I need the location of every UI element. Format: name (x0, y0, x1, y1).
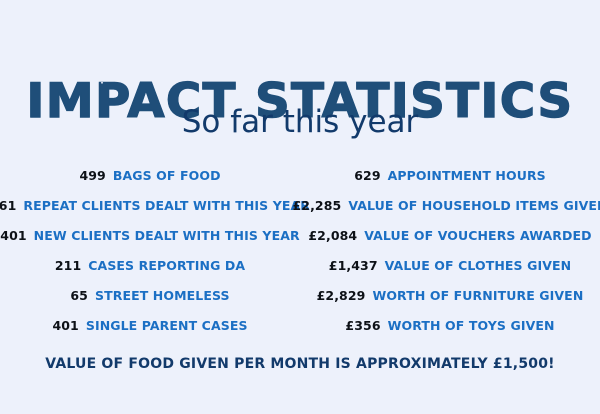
stat-row: £2,084 VALUE OF VOUCHERS AWARDED (300, 220, 600, 250)
stat-value: 65 (70, 288, 88, 303)
footer-note: VALUE OF FOOD GIVEN PER MONTH IS APPROXI… (0, 356, 600, 372)
stat-row: 461 REPEAT CLIENTS DEALT WITH THIS YEAR (0, 190, 300, 220)
stat-row: 401 SINGLE PARENT CASES (0, 310, 300, 340)
stat-value: £2,829 (317, 288, 366, 303)
stat-label: NEW CLIENTS DEALT WITH THIS YEAR (34, 228, 300, 243)
stat-label: VALUE OF HOUSEHOLD ITEMS GIVEN (348, 198, 600, 213)
stat-value: £2,084 (308, 228, 357, 243)
stat-row: 401 NEW CLIENTS DEALT WITH THIS YEAR (0, 220, 300, 250)
stat-value: £1,437 (329, 258, 378, 273)
stat-label: WORTH OF FURNITURE GIVEN (372, 288, 583, 303)
stat-label: WORTH OF TOYS GIVEN (388, 318, 555, 333)
page-subtitle: So far this year (0, 104, 600, 140)
stat-value: £2,285 (292, 198, 341, 213)
stat-value: £356 (345, 318, 380, 333)
stat-label: APPOINTMENT HOURS (388, 168, 546, 183)
stat-label: CASES REPORTING DA (88, 258, 245, 273)
stat-label: STREET HOMELESS (95, 288, 230, 303)
stat-row: 629 APPOINTMENT HOURS (300, 160, 600, 190)
stat-value: 401 (0, 228, 26, 243)
poster-title-wrap: IMPACT STATISTICS (0, 38, 600, 94)
stat-label: VALUE OF CLOTHES GIVEN (385, 258, 572, 273)
stat-value: 629 (354, 168, 380, 183)
stat-row: £2,829 WORTH OF FURNITURE GIVEN (300, 280, 600, 310)
stat-label: SINGLE PARENT CASES (86, 318, 248, 333)
stat-label: VALUE OF VOUCHERS AWARDED (364, 228, 591, 243)
statistics-column-right: 629 APPOINTMENT HOURS £2,285 VALUE OF HO… (300, 160, 600, 340)
stat-row: 499 BAGS OF FOOD (0, 160, 300, 190)
stat-row: £1,437 VALUE OF CLOTHES GIVEN (300, 250, 600, 280)
statistics-columns: 499 BAGS OF FOOD 461 REPEAT CLIENTS DEAL… (0, 160, 600, 340)
stat-row: £356 WORTH OF TOYS GIVEN (300, 310, 600, 340)
stat-row: 211 CASES REPORTING DA (0, 250, 300, 280)
stat-row: 65 STREET HOMELESS (0, 280, 300, 310)
stat-value: 461 (0, 198, 16, 213)
impact-statistics-poster: IMPACT STATISTICS So far this year 499 B… (0, 0, 600, 414)
stat-row: £2,285 VALUE OF HOUSEHOLD ITEMS GIVEN (300, 190, 600, 220)
stat-label: BAGS OF FOOD (113, 168, 221, 183)
stat-value: 499 (79, 168, 105, 183)
stat-label: REPEAT CLIENTS DEALT WITH THIS YEAR (23, 198, 310, 213)
statistics-column-left: 499 BAGS OF FOOD 461 REPEAT CLIENTS DEAL… (0, 160, 300, 340)
stat-value: 211 (55, 258, 81, 273)
stat-value: 401 (52, 318, 78, 333)
